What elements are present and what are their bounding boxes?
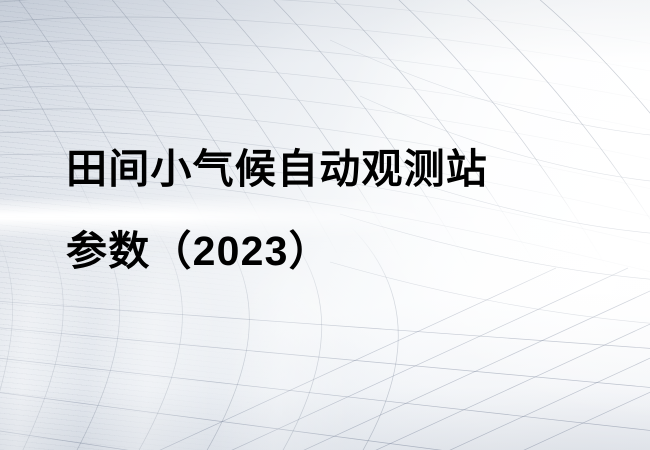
title-line-2: 参数（2023） xyxy=(66,210,626,292)
title-line-1: 田间小气候自动观测站 xyxy=(66,128,626,210)
page-title: 田间小气候自动观测站 参数（2023） xyxy=(66,128,626,292)
title-banner: 田间小气候自动观测站 参数（2023） xyxy=(0,0,650,450)
